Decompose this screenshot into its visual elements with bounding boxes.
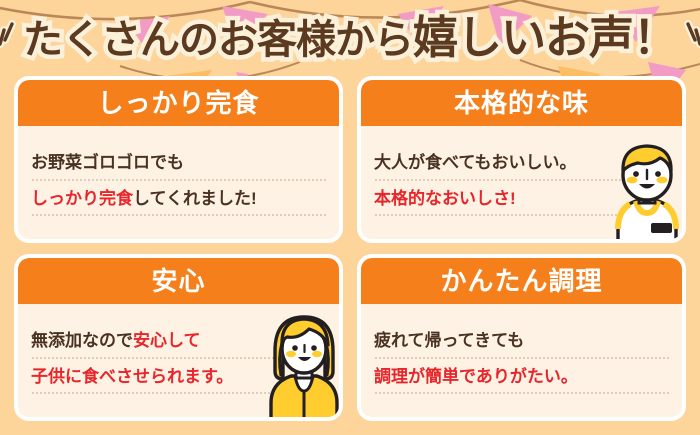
testimonial-line: 調理が簡単でありがたい。: [374, 366, 669, 394]
card-body: 無添加なので安心して 子供に食べさせられます。: [18, 304, 339, 417]
line-pre: 無添加なので: [31, 331, 133, 350]
line-highlight: 本格的なおいしさ!: [374, 189, 516, 208]
promo-banner: たくさんのお客様から嬉しいお声！ しっかり完食 お野菜ゴロゴロでも しっかり完食…: [0, 0, 700, 435]
card-heading: 安心: [151, 268, 205, 294]
line-pre: 疲れて帰ってきても: [374, 331, 524, 350]
testimonial-line: 無添加なので安心して: [31, 330, 326, 358]
testimonial-card-kantan: かんたん調理 疲れて帰ってきても 調理が簡単でありがたい。: [357, 254, 686, 421]
testimonial-line: しっかり完食してくれました!: [31, 188, 326, 216]
testimonial-line: 本格的なおいしさ!: [374, 188, 669, 216]
card-header-bar: 安心: [18, 258, 339, 304]
line-pre: お野菜ゴロゴロでも: [31, 153, 184, 172]
card-body: お野菜ゴロゴロでも しっかり完食してくれました!: [18, 126, 339, 239]
card-header-bar: かんたん調理: [361, 258, 682, 304]
line-highlight: 子供に食べさせられます。: [31, 367, 233, 386]
testimonial-line: 疲れて帰ってきても: [374, 330, 669, 358]
line-highlight: 調理が簡単でありがたい。: [374, 367, 578, 386]
testimonial-card-kanshoku: しっかり完食 お野菜ゴロゴロでも しっかり完食してくれました!: [14, 76, 343, 243]
card-heading: 本格的な味: [454, 90, 589, 116]
card-body: 疲れて帰ってきても 調理が簡単でありがたい。: [361, 304, 682, 417]
sparkle-left-icon: [0, 14, 17, 60]
card-header-bar: しっかり完食: [18, 80, 339, 126]
card-heading: かんたん調理: [440, 268, 602, 294]
testimonial-line: 大人が食べてもおいしい。: [374, 152, 669, 180]
card-heading: しっかり完食: [97, 90, 259, 116]
card-header-bar: 本格的な味: [361, 80, 682, 126]
line-pre: 大人が食べてもおいしい。: [374, 153, 576, 172]
page-title-plain: たくさんのお客様から: [23, 18, 413, 62]
page-title: たくさんのお客様から嬉しいお声！: [0, 6, 700, 68]
card-body: 大人が食べてもおいしい。 本格的なおいしさ!: [361, 126, 682, 239]
page-title-text: たくさんのお客様から嬉しいお声！: [23, 15, 677, 60]
page-title-emphasis: 嬉しいお声！: [413, 12, 677, 63]
sparkle-right-icon: [683, 14, 700, 60]
line-highlight: しっかり完食: [31, 189, 133, 208]
name-badge: [651, 223, 672, 233]
line-post: してくれました!: [133, 189, 257, 208]
line-highlight: 安心して: [133, 331, 201, 350]
testimonial-card-honkakuteki: 本格的な味 大人が食べてもおいしい。 本格的なおいしさ!: [357, 76, 686, 243]
testimonial-line: お野菜ゴロゴロでも: [31, 152, 326, 180]
testimonial-card-anshin: 安心 無添加なので安心して 子供に食べさせられます。: [14, 254, 343, 421]
testimonial-line: 子供に食べさせられます。: [31, 366, 326, 394]
testimonial-card-grid: しっかり完食 お野菜ゴロゴロでも しっかり完食してくれました! 本格的な味 大人…: [14, 76, 686, 421]
